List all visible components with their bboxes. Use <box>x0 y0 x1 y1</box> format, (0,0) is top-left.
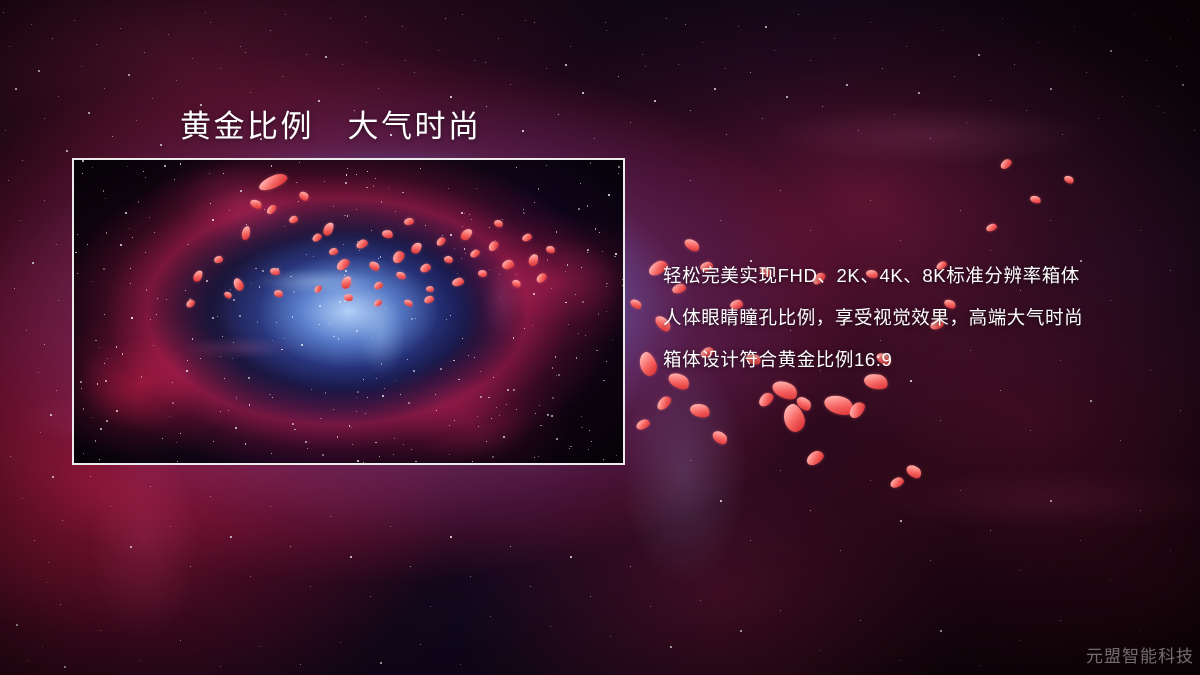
star <box>176 80 177 81</box>
star <box>720 220 721 221</box>
star <box>630 122 631 123</box>
star <box>550 626 551 627</box>
rose-petal <box>390 249 406 265</box>
star <box>760 400 762 402</box>
rose-petal <box>635 418 651 432</box>
star <box>245 52 246 53</box>
star <box>58 96 59 97</box>
star <box>282 76 283 77</box>
star <box>486 106 487 107</box>
star <box>1134 14 1135 15</box>
star <box>1140 630 1141 631</box>
rose-petal <box>477 269 488 278</box>
star <box>450 536 452 538</box>
star <box>32 262 34 264</box>
rose-petal <box>419 262 432 274</box>
star <box>1074 26 1075 27</box>
rose-petal <box>469 248 481 259</box>
rose-petal <box>511 278 522 289</box>
star <box>330 516 331 517</box>
rose-petal <box>269 267 281 277</box>
star <box>894 114 895 115</box>
star <box>350 556 352 558</box>
star <box>285 14 286 15</box>
star <box>42 646 43 647</box>
star <box>64 666 66 668</box>
star <box>46 582 47 583</box>
rose-petal <box>493 218 504 228</box>
star <box>50 414 52 416</box>
star <box>40 432 41 433</box>
rose-petal <box>985 222 998 232</box>
star <box>525 20 526 21</box>
star <box>558 114 559 115</box>
star <box>990 250 991 251</box>
star <box>1140 230 1141 231</box>
star <box>16 624 18 626</box>
rose-petal <box>321 221 335 237</box>
star <box>740 630 742 632</box>
rose-petal <box>249 198 263 211</box>
star <box>120 28 121 29</box>
star <box>20 220 21 221</box>
star <box>966 122 967 123</box>
star <box>1002 18 1003 19</box>
star <box>445 18 446 19</box>
star <box>112 136 113 137</box>
star <box>110 506 111 507</box>
star <box>450 96 452 98</box>
star <box>190 566 191 567</box>
rose-petal <box>804 448 826 467</box>
star <box>960 210 961 211</box>
star <box>38 70 40 72</box>
star <box>52 476 54 478</box>
star <box>565 64 567 66</box>
star <box>90 476 91 477</box>
star <box>940 420 941 421</box>
star <box>714 88 716 90</box>
star <box>942 30 943 31</box>
rose-petal <box>404 217 415 225</box>
star <box>685 24 686 25</box>
star <box>22 160 23 161</box>
star <box>31 24 32 25</box>
star <box>700 600 701 601</box>
rose-petal <box>535 272 549 285</box>
star <box>152 98 153 99</box>
rose-petal <box>311 232 323 243</box>
star <box>378 88 379 89</box>
star <box>954 76 955 77</box>
star <box>130 546 132 548</box>
star <box>858 130 859 131</box>
star <box>1122 96 1123 97</box>
rose-petal <box>273 289 284 299</box>
star <box>498 38 499 39</box>
star <box>410 566 411 567</box>
rose-petal <box>545 244 556 254</box>
rose-petal <box>629 297 643 311</box>
rose-petal <box>335 257 352 272</box>
star <box>670 646 672 648</box>
star <box>306 54 307 55</box>
star <box>846 84 848 86</box>
star <box>960 490 961 491</box>
star <box>650 606 651 607</box>
rose-petal <box>655 394 674 412</box>
rose-petal <box>683 236 702 253</box>
rose-petal <box>313 284 323 294</box>
star <box>1182 84 1184 86</box>
body-line-1: 轻松完美实现FHD、2K、4K、8K标准分辨率箱体 <box>663 255 1183 297</box>
star <box>780 190 781 191</box>
rose-petal <box>1029 194 1042 204</box>
rose-petal <box>1063 174 1075 185</box>
star <box>300 664 301 665</box>
watermark: 元盟智能科技 <box>1086 642 1194 667</box>
star <box>690 110 691 111</box>
rose-petal <box>185 298 196 309</box>
star <box>26 330 27 331</box>
star <box>570 556 572 558</box>
star <box>1062 134 1063 135</box>
rose-petal <box>636 350 659 378</box>
star <box>62 520 63 521</box>
star <box>330 18 331 19</box>
star <box>820 650 821 651</box>
star <box>850 410 851 411</box>
star <box>150 486 151 487</box>
star <box>240 46 241 47</box>
star <box>720 500 722 502</box>
star <box>74 20 75 21</box>
rose-petal <box>425 285 434 293</box>
star <box>1140 510 1141 511</box>
star <box>210 496 211 497</box>
star <box>1026 110 1027 111</box>
star <box>5 130 6 131</box>
rose-petal <box>231 277 245 293</box>
star <box>1146 60 1147 61</box>
star <box>1038 42 1039 43</box>
star <box>60 604 61 605</box>
star <box>28 660 29 661</box>
star <box>1020 570 1021 571</box>
star <box>642 54 643 55</box>
star <box>460 664 461 665</box>
star <box>666 18 667 19</box>
star <box>750 72 751 73</box>
star <box>44 118 45 119</box>
rose-petal <box>340 275 353 290</box>
star <box>1098 118 1099 119</box>
star <box>380 662 382 664</box>
star <box>774 50 775 51</box>
star <box>882 68 883 69</box>
star <box>765 26 767 28</box>
star <box>44 344 45 345</box>
star <box>1176 66 1177 67</box>
star <box>738 26 739 27</box>
star <box>52 38 53 39</box>
star <box>900 660 901 661</box>
star <box>44 200 45 201</box>
star <box>160 144 162 146</box>
rose-petal <box>403 298 414 308</box>
rose-petal <box>343 293 353 302</box>
star <box>750 540 751 541</box>
star <box>870 480 871 481</box>
star <box>56 244 57 245</box>
rose-petal <box>527 253 539 267</box>
rose-petal <box>846 399 867 420</box>
star <box>1060 620 1061 621</box>
star <box>786 96 788 98</box>
star <box>205 12 206 13</box>
star <box>462 14 463 15</box>
star <box>15 88 17 90</box>
star <box>470 576 471 577</box>
star <box>810 230 811 231</box>
star <box>170 526 171 527</box>
star <box>270 30 271 31</box>
star <box>14 288 15 289</box>
star <box>1194 130 1195 131</box>
rose-petal <box>688 401 711 420</box>
star <box>726 134 727 135</box>
star <box>168 34 169 35</box>
star <box>530 586 531 587</box>
star <box>96 44 97 45</box>
star <box>180 640 181 641</box>
star <box>34 540 35 541</box>
star <box>405 60 406 61</box>
star <box>1090 400 1092 402</box>
star <box>645 66 646 67</box>
star <box>250 576 251 577</box>
star <box>100 630 101 631</box>
star <box>420 644 421 645</box>
star <box>618 76 619 77</box>
star <box>678 64 679 65</box>
star <box>978 54 980 56</box>
star <box>510 546 511 547</box>
star <box>1170 550 1171 551</box>
star <box>10 456 11 457</box>
star <box>900 520 902 522</box>
star <box>624 335 625 336</box>
rose-petal <box>265 203 278 215</box>
star <box>606 30 607 31</box>
star <box>918 92 920 94</box>
star <box>58 300 59 301</box>
page-title: 黄金比例 大气时尚 <box>180 101 482 146</box>
star <box>990 530 991 531</box>
frame-petals <box>74 160 623 463</box>
star <box>510 84 511 85</box>
star <box>485 62 486 63</box>
star <box>414 72 415 73</box>
rose-petal <box>889 476 905 490</box>
star <box>140 660 141 661</box>
rose-petal <box>459 227 474 243</box>
star <box>1110 50 1112 52</box>
star <box>220 666 221 667</box>
star <box>136 120 137 121</box>
star <box>546 68 547 69</box>
star <box>474 60 475 61</box>
star <box>870 22 871 23</box>
star <box>822 106 823 107</box>
rose-petal <box>381 229 394 240</box>
rose-petal <box>373 299 383 308</box>
rose-petal <box>501 259 515 270</box>
rose-petal <box>368 259 382 272</box>
star <box>900 240 901 241</box>
rose-petal <box>780 402 808 435</box>
star <box>590 596 591 597</box>
star <box>365 16 366 17</box>
star <box>930 560 931 561</box>
star <box>9 46 10 47</box>
star <box>798 14 799 15</box>
star <box>605 22 606 23</box>
star <box>594 138 595 139</box>
star <box>1080 540 1081 541</box>
star <box>906 46 907 47</box>
rose-petal <box>423 295 435 304</box>
presentation-slide: 黄金比例 大气时尚 轻松完美实现FHD、2K、4K、8K标准分辨率箱体 人体眼睛… <box>0 0 1200 675</box>
star <box>56 390 57 391</box>
star <box>230 536 232 538</box>
star <box>1050 500 1052 502</box>
rose-petal <box>395 270 407 281</box>
rose-petal <box>355 238 369 250</box>
rose-petal <box>794 394 813 413</box>
rose-petal <box>443 255 454 265</box>
star <box>1110 580 1111 581</box>
star <box>144 52 145 53</box>
star <box>1180 410 1181 411</box>
star <box>1164 112 1165 113</box>
rose-petal <box>373 281 384 290</box>
star <box>654 100 656 102</box>
star <box>1030 430 1031 431</box>
star <box>930 138 931 139</box>
star <box>610 636 611 637</box>
star <box>104 88 105 89</box>
rose-petal <box>710 428 729 447</box>
body-line-3: 箱体设计符合黄金比例16:9 <box>663 339 1183 381</box>
framed-nebula-image <box>72 158 625 465</box>
rose-petal <box>288 215 299 224</box>
star <box>192 58 193 59</box>
rose-petal <box>192 269 204 283</box>
star <box>630 566 631 567</box>
star <box>325 56 327 58</box>
star <box>48 562 49 563</box>
rose-petal <box>298 190 311 203</box>
star <box>250 92 251 93</box>
star <box>582 92 584 94</box>
star <box>780 470 781 471</box>
rose-petal <box>409 241 423 256</box>
rose-petal <box>999 157 1013 170</box>
star <box>522 130 524 132</box>
star <box>990 100 991 101</box>
star <box>438 50 439 51</box>
star <box>702 42 703 43</box>
star <box>1020 640 1021 641</box>
star <box>402 26 403 27</box>
rose-petal <box>223 290 233 300</box>
star <box>780 610 781 611</box>
rose-petal <box>904 462 923 481</box>
star <box>128 74 130 76</box>
rose-petal <box>521 233 533 243</box>
star <box>38 372 39 373</box>
rose-petal <box>822 391 856 418</box>
star <box>1014 64 1015 65</box>
star <box>260 646 261 647</box>
body-line-2: 人体眼睛瞳孔比例，享受视觉效果，高端大气时尚 <box>663 297 1183 339</box>
star <box>1170 38 1171 39</box>
star <box>810 60 811 61</box>
star <box>340 642 341 643</box>
star <box>390 526 391 527</box>
star <box>3 12 4 13</box>
rose-petal <box>435 236 447 248</box>
star <box>81 66 82 67</box>
star <box>370 596 371 597</box>
rose-petal <box>257 171 289 193</box>
rose-petal <box>328 247 338 255</box>
star <box>1188 20 1189 21</box>
body-text-block: 轻松完美实现FHD、2K、4K、8K标准分辨率箱体 人体眼睛瞳孔比例，享受视觉效… <box>663 255 1183 381</box>
rose-petal <box>213 255 223 263</box>
rose-petal <box>487 239 500 252</box>
star <box>342 64 343 65</box>
rose-petal <box>241 225 251 240</box>
star <box>725 68 726 69</box>
star <box>534 22 535 23</box>
star <box>366 42 367 43</box>
star <box>940 630 942 632</box>
star <box>834 38 835 39</box>
star <box>810 510 811 511</box>
star <box>220 68 221 69</box>
star <box>980 665 981 666</box>
star <box>8 180 9 181</box>
star <box>762 118 763 119</box>
star <box>270 506 271 507</box>
star <box>860 620 861 621</box>
star <box>310 586 311 587</box>
rose-petal <box>756 390 775 409</box>
star <box>1050 88 1052 90</box>
star <box>210 22 211 23</box>
star <box>290 546 291 547</box>
star <box>870 200 871 201</box>
rose-petal <box>451 277 465 288</box>
star <box>690 180 691 181</box>
star <box>490 616 491 617</box>
star <box>1086 72 1087 73</box>
star <box>22 498 23 499</box>
star <box>430 606 431 607</box>
star <box>840 550 841 551</box>
